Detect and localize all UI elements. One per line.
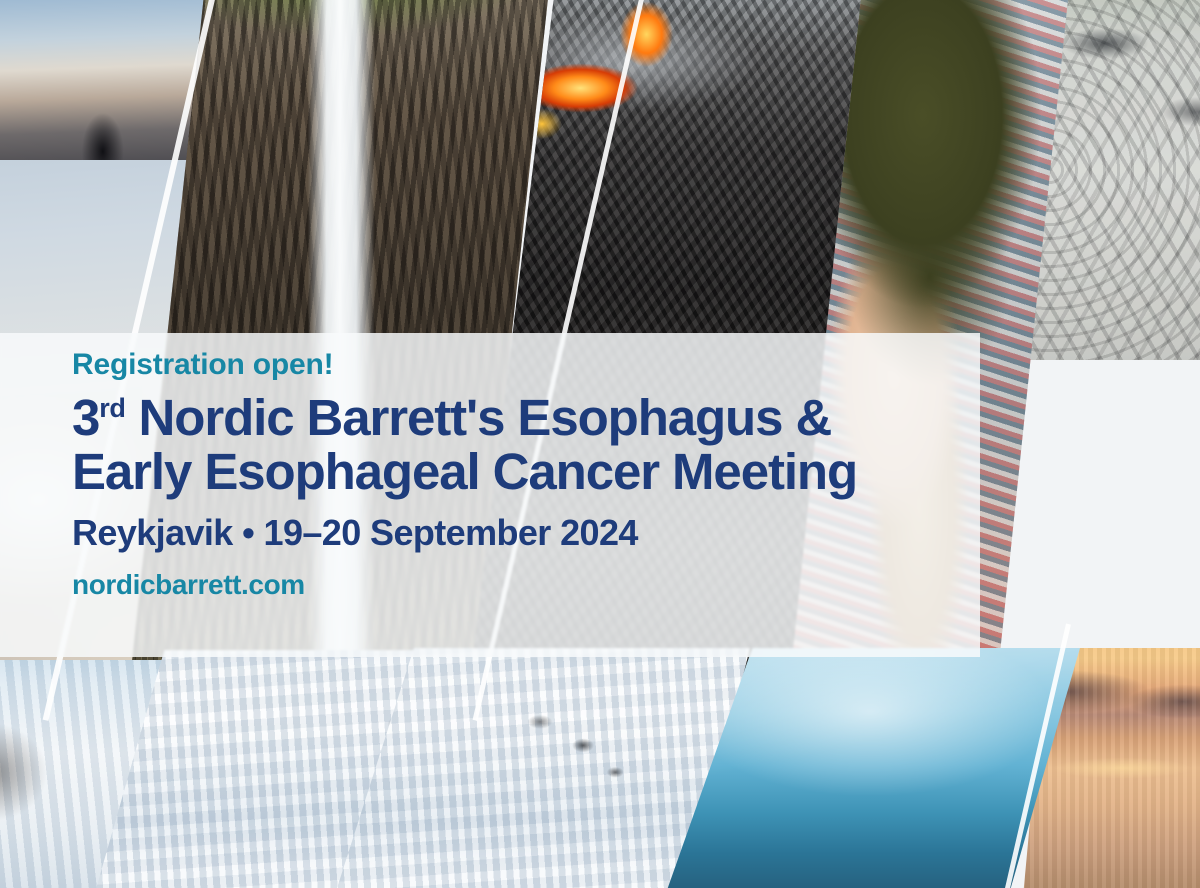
event-location-and-dates: Reykjavik • 19–20 September 2024	[72, 511, 960, 554]
page-title: 3rd Nordic Barrett's Esophagus &	[72, 391, 960, 445]
text-overlay-panel: Registration open! 3rd Nordic Barrett's …	[0, 333, 980, 657]
event-banner: Registration open! 3rd Nordic Barrett's …	[0, 0, 1200, 888]
title-line1-rest: Nordic Barrett's Esophagus &	[125, 389, 831, 446]
collage-photo-sunset-shore	[980, 318, 1200, 678]
sunset-shore-image	[980, 318, 1200, 678]
title-ordinal-number: 3	[72, 389, 99, 446]
title-ordinal-suffix: rd	[99, 393, 125, 423]
event-website-link[interactable]: nordicbarrett.com	[72, 568, 305, 602]
page-title-line2: Early Esophageal Cancer Meeting	[72, 445, 960, 499]
registration-kicker: Registration open!	[72, 347, 960, 383]
